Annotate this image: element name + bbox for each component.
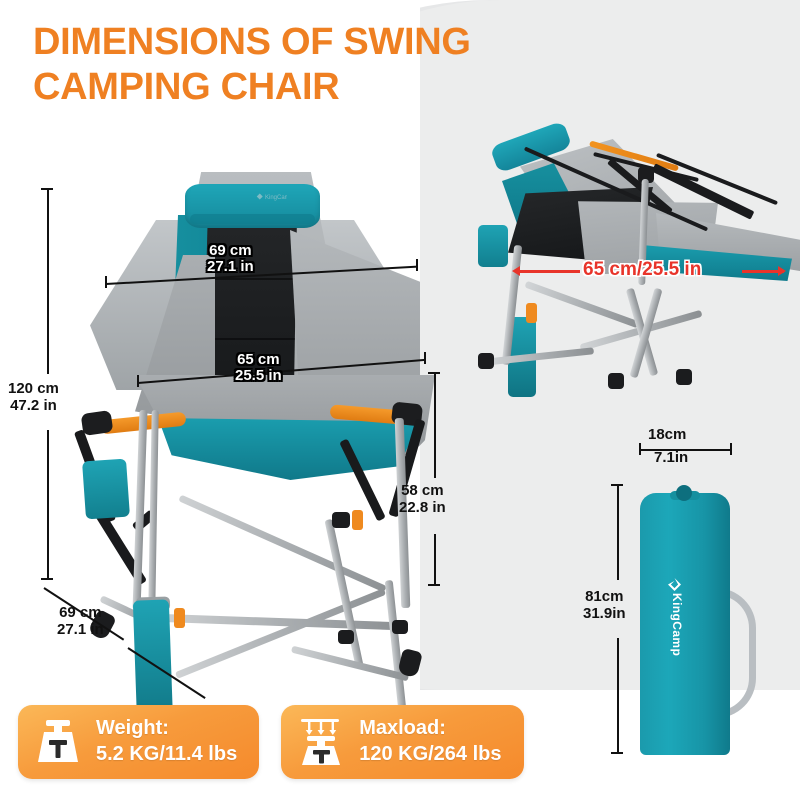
label-total-height-in: 47.2 in bbox=[10, 397, 57, 414]
chair-joint-lower-right bbox=[338, 630, 354, 644]
reclined-foot-mid bbox=[608, 373, 624, 389]
dimline-total-height-upper bbox=[47, 188, 49, 374]
dimline-total-height-lower bbox=[47, 430, 49, 580]
dimline-bag-height-lower bbox=[617, 638, 619, 754]
dimtick-bag-left bbox=[639, 443, 641, 455]
dimtick-top-h bbox=[41, 188, 53, 190]
redline-left bbox=[518, 270, 580, 273]
label-reclined-length: 65 cm/25.5 in bbox=[583, 259, 701, 281]
reclined-base-bar-left bbox=[524, 281, 639, 329]
label-seat-width-cm: 65 cm bbox=[237, 351, 280, 368]
label-bag-width-in: 7.1in bbox=[654, 450, 688, 467]
carry-bag-illustration: KingCamp bbox=[640, 483, 730, 755]
redarrow-left bbox=[512, 266, 520, 276]
dimtick-bag-right bbox=[730, 443, 732, 455]
label-seat-height-cm: 58 cm bbox=[401, 482, 444, 499]
dimtick-right-1 bbox=[416, 259, 418, 271]
label-seat-width: 65 cm 25.5 in bbox=[235, 352, 282, 384]
label-seat-back-width: 69 cm 27.1 in bbox=[207, 243, 254, 275]
label-seat-height-in: 22.8 in bbox=[399, 499, 446, 516]
maxload-badge-text: Maxload: 120 KG/264 lbs bbox=[359, 716, 501, 767]
dimtick-bottom-h bbox=[41, 578, 53, 580]
chair-cup-holder bbox=[82, 459, 130, 520]
label-seat-back-width-in: 27.1 in bbox=[207, 258, 254, 275]
redarrow-right bbox=[778, 266, 786, 276]
maxload-badge[interactable]: Maxload: 120 KG/264 lbs bbox=[281, 705, 523, 779]
brand-logo-icon: KingCamp bbox=[255, 192, 287, 201]
carry-bag-body bbox=[640, 493, 730, 755]
page-title-line1: DIMENSIONS OF SWING bbox=[33, 21, 471, 63]
label-total-height-cm: 120 cm bbox=[8, 380, 59, 397]
carry-bag-cinch-knob bbox=[676, 485, 692, 501]
dimtick-seat-top bbox=[428, 372, 440, 374]
chair-armrest-cap-left bbox=[81, 410, 114, 436]
weight-badge[interactable]: Weight: 5.2 KG/11.4 lbs bbox=[18, 705, 259, 779]
label-total-height: 120 cm 47.2 in bbox=[8, 381, 59, 415]
label-base-depth-cm: 69 cm bbox=[59, 604, 102, 621]
label-base-depth: 69 cm 27.1 in bbox=[57, 605, 104, 639]
maxload-icon bbox=[295, 716, 347, 768]
reclined-foot-right bbox=[676, 369, 692, 385]
label-bag-height: 81cm 31.9in bbox=[583, 589, 626, 623]
label-seat-back-width-cm: 69 cm bbox=[209, 242, 252, 259]
dimline-seat-height-upper bbox=[434, 372, 436, 478]
weight-scale-icon bbox=[32, 716, 84, 768]
dimline-seat-height-lower bbox=[434, 534, 436, 586]
dimtick-bag-top bbox=[611, 484, 623, 486]
dimtick-seat-bottom bbox=[428, 584, 440, 586]
svg-text:KingCamp: KingCamp bbox=[265, 195, 287, 201]
maxload-badge-value: 120 KG/264 lbs bbox=[359, 743, 501, 765]
weight-badge-text: Weight: 5.2 KG/11.4 lbs bbox=[96, 716, 237, 767]
reclined-cup-holder bbox=[478, 225, 508, 267]
chair-pillow-seam bbox=[190, 214, 315, 224]
chair-joint-upper-right bbox=[332, 512, 350, 528]
chair-base-crossbar bbox=[160, 614, 395, 630]
weight-badge-label: Weight: bbox=[96, 717, 169, 739]
reclined-foot-left bbox=[478, 353, 494, 369]
dimline-bag-height-upper bbox=[617, 484, 619, 580]
maxload-badge-label: Maxload: bbox=[359, 717, 446, 739]
dimtick-left-1 bbox=[105, 276, 107, 288]
chair-joint-right bbox=[392, 620, 408, 634]
reclined-orange-clip bbox=[526, 303, 537, 323]
spec-badges: Weight: 5.2 KG/11.4 lbs bbox=[18, 705, 524, 779]
main-chair-illustration: KingCamp bbox=[40, 160, 460, 670]
label-seat-height: 58 cm 22.8 in bbox=[399, 483, 446, 517]
dimtick-right-2 bbox=[424, 352, 426, 364]
page-title: DIMENSIONS OF SWING CAMPING CHAIR bbox=[33, 20, 503, 110]
chair-pole-left-vertical2 bbox=[148, 410, 158, 610]
label-bag-height-in: 31.9in bbox=[583, 605, 626, 622]
weight-badge-value: 5.2 KG/11.4 lbs bbox=[96, 743, 237, 765]
carry-bag-logo-text: KingCamp bbox=[670, 593, 684, 656]
label-bag-width-cm: 18cm bbox=[648, 427, 686, 444]
chair-orange-clip-right bbox=[352, 510, 363, 530]
dimtick-bag-bottom bbox=[611, 752, 623, 754]
reclined-base-front bbox=[484, 347, 594, 365]
dimtick-left-2 bbox=[137, 375, 139, 387]
chair-orange-clip-left bbox=[174, 608, 185, 628]
label-base-depth-in: 27.1 in bbox=[57, 621, 104, 638]
chair-seat-teal-trim bbox=[150, 418, 420, 480]
label-bag-height-cm: 81cm bbox=[585, 588, 623, 605]
label-seat-width-in: 25.5 in bbox=[235, 367, 282, 384]
chair-leg-mid-right bbox=[324, 519, 363, 667]
page-title-line2: CAMPING CHAIR bbox=[33, 65, 503, 110]
infographic-root: DIMENSIONS OF SWING CAMPING CHAIR KingCa… bbox=[0, 0, 800, 800]
